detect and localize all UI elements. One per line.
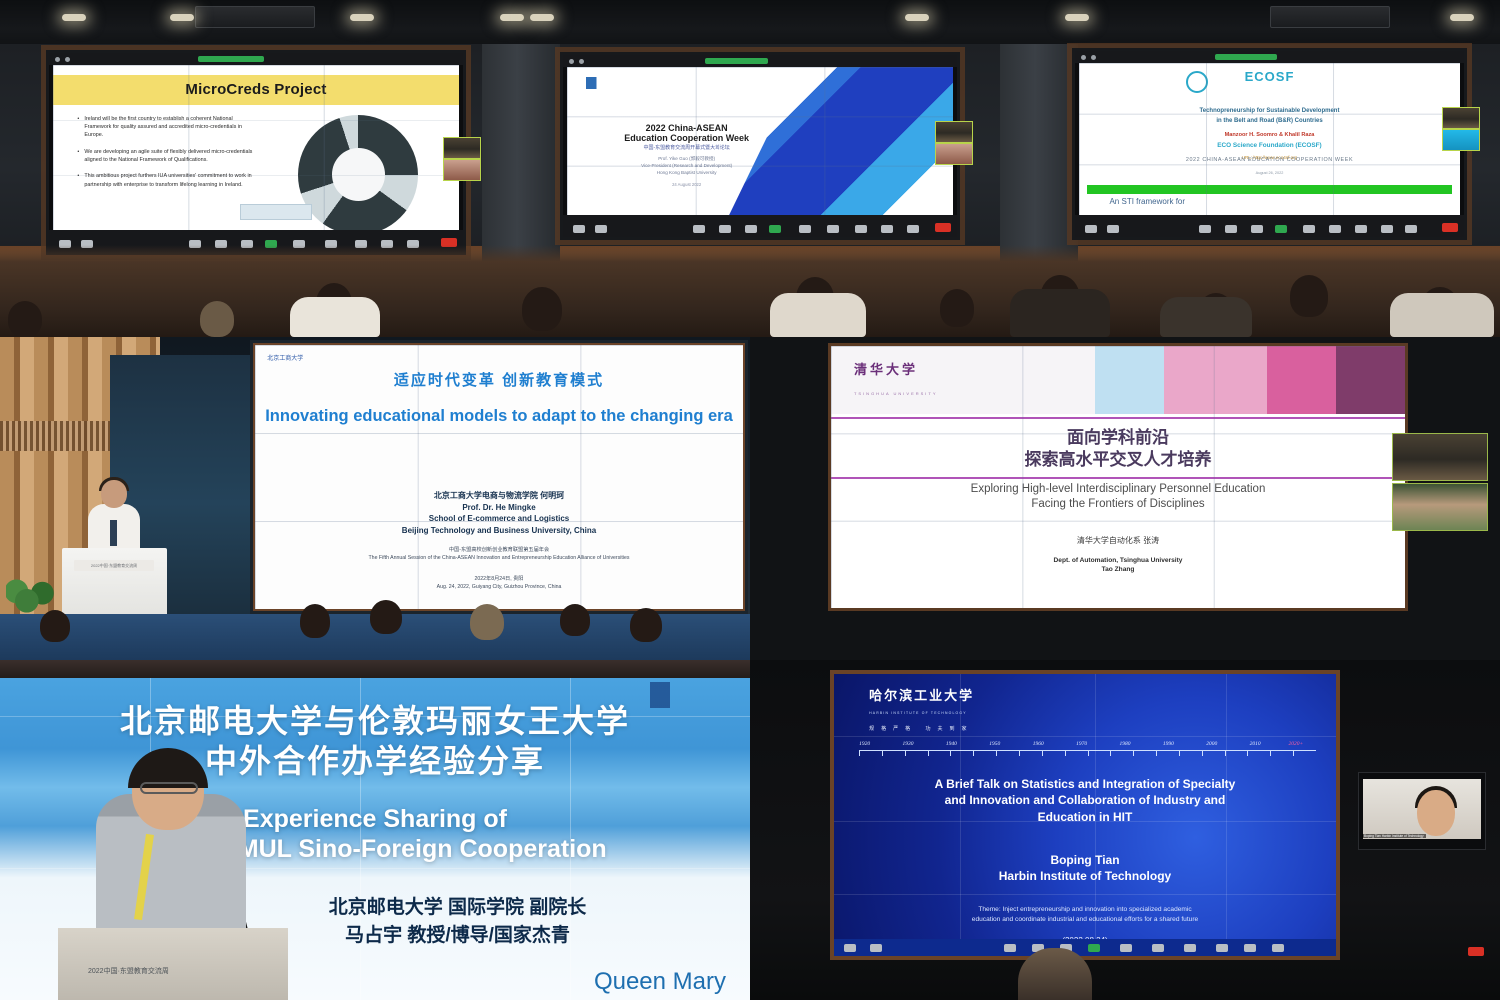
video-tile-participant bbox=[443, 159, 481, 181]
hkbu-logo bbox=[586, 77, 638, 89]
podium-sign-label: 2022中国·东盟教育交流周 bbox=[74, 560, 154, 571]
ceiling-light bbox=[170, 14, 194, 21]
record-button[interactable] bbox=[1355, 225, 1367, 233]
end-meeting-button[interactable] bbox=[1468, 947, 1484, 956]
shared-slide: MicroCreds Project Ireland will be the f… bbox=[53, 65, 459, 230]
video-tile-room bbox=[935, 121, 973, 143]
presenter-name: Prof. Yike Guo (郭毅可教授) bbox=[586, 156, 787, 163]
screen-ecosf: ECOSF Technopreneurship for Sustainable … bbox=[1072, 48, 1467, 240]
ceiling-light bbox=[530, 14, 554, 21]
date-cn: 2022年8月24日, 贵阳 bbox=[255, 575, 743, 583]
donut-diagram-icon bbox=[298, 115, 418, 235]
mute-button[interactable] bbox=[573, 225, 585, 233]
slide-speaker-line1: 北京邮电大学 国际学院 副院长 bbox=[180, 894, 735, 923]
chat-button[interactable] bbox=[745, 225, 757, 233]
slide-event-block: 中国-东盟高校创新创业教育联盟第五届年会 The Fifth Annual Se… bbox=[255, 546, 743, 562]
slide-title-cn-line1: 面向学科前沿 bbox=[831, 427, 1405, 449]
slide-theme-line1: Theme: Inject entrepreneurship and innov… bbox=[874, 905, 1296, 915]
slide-bullet-list: Ireland will be the first country to est… bbox=[77, 115, 256, 198]
breakout-rooms-button[interactable] bbox=[1244, 944, 1256, 952]
slide-title-line2: Education Cooperation Week bbox=[586, 133, 787, 143]
slide-date: August 26, 2022 bbox=[1109, 171, 1429, 175]
slide-title-line1: 2022 China-ASEAN bbox=[586, 123, 787, 133]
slide-date-block: 2022年8月24日, 贵阳 Aug. 24, 2022, Guiyang Ci… bbox=[255, 575, 743, 591]
pause-share-button[interactable] bbox=[799, 225, 811, 233]
timeline-year: 2000 bbox=[1206, 741, 1217, 747]
video-thumbnail-strip bbox=[443, 137, 481, 181]
video-tile-participant bbox=[1442, 129, 1480, 151]
btbu-logo: 北京工商大学 bbox=[267, 353, 303, 362]
timeline-year: 1930 bbox=[902, 741, 913, 747]
start-video-button[interactable] bbox=[870, 944, 882, 952]
ceiling-light bbox=[500, 14, 524, 21]
slide-title-cn-line2: 中外合作办学经验分享 bbox=[0, 741, 750, 782]
presenter-role: Vice-President (Research and Development… bbox=[586, 163, 787, 170]
slide-speaker: Boping Tian bbox=[864, 852, 1306, 869]
timeline-year-highlight: 2020+ bbox=[1289, 741, 1304, 747]
apps-button[interactable] bbox=[881, 225, 893, 233]
slide-presenters: Manzoor H. Soomro & Khalil Raza bbox=[1109, 131, 1429, 141]
share-screen-button[interactable] bbox=[1275, 225, 1287, 233]
slide-bullet: Ireland will be the first country to est… bbox=[77, 115, 256, 140]
more-button[interactable] bbox=[907, 225, 919, 233]
slide-title-cn-line2: 探索高水平交叉人才培养 bbox=[831, 449, 1405, 471]
participants-button[interactable] bbox=[719, 225, 731, 233]
annotate-button[interactable] bbox=[1329, 225, 1341, 233]
timeline-year: 1990 bbox=[1163, 741, 1174, 747]
shared-slide: ECOSF Technopreneurship for Sustainable … bbox=[1079, 63, 1460, 215]
slide-title-line3: Education in HIT bbox=[864, 809, 1306, 826]
slide-title-en-line1: Exploring High-level Interdisciplinary P… bbox=[831, 482, 1405, 497]
annotate-button[interactable] bbox=[827, 225, 839, 233]
slide-dept-block: Dept. of Automation, Tsinghua University… bbox=[831, 556, 1405, 576]
date-en: Aug. 24, 2022, Guiyang City, Guizhou Pro… bbox=[255, 583, 743, 591]
security-button[interactable] bbox=[693, 225, 705, 233]
ecosf-emblem-icon bbox=[1186, 71, 1208, 93]
speaker-necktie bbox=[110, 520, 117, 546]
school-en: School of E-commerce and Logistics bbox=[255, 513, 743, 525]
auditorium-wide-shot: MicroCreds Project Ireland will be the f… bbox=[0, 0, 1500, 337]
ceiling-light bbox=[905, 14, 929, 21]
slide-bullet: We are developing an agile suite of flex… bbox=[77, 148, 256, 165]
chat-button[interactable] bbox=[1251, 225, 1263, 233]
unmute-button[interactable] bbox=[844, 944, 856, 952]
led-wall: 清华大学 TSINGHUA UNIVERSITY 面向学科前沿 探索高水平交叉人… bbox=[828, 343, 1408, 611]
shared-slide: 2022 China-ASEAN Education Cooperation W… bbox=[567, 67, 953, 215]
ceiling-vent bbox=[1270, 6, 1390, 28]
slide-title-line2: and Innovation and Collaboration of Indu… bbox=[864, 792, 1306, 809]
zoom-toolbar[interactable] bbox=[1075, 215, 1464, 237]
event-en: The Fifth Annual Session of the China-AS… bbox=[255, 554, 743, 562]
led-wall: 哈尔滨工业大学 HARBIN INSTITUTE OF TECHNOLOGY 规… bbox=[830, 670, 1340, 960]
video-tile-participant bbox=[1392, 483, 1488, 531]
university-en: Beijing Technology and Business Universi… bbox=[255, 525, 743, 537]
author-en: Prof. Dr. He Mingke bbox=[255, 502, 743, 514]
btbu-slide-screen: 北京工商大学 适应时代变革 创新教育模式 Innovating educatio… bbox=[253, 343, 745, 611]
event-cn: 中国-东盟高校创新创业教育联盟第五届年会 bbox=[255, 546, 743, 554]
slide-date: 24 August 2022 bbox=[586, 182, 787, 187]
stop-caption-button[interactable] bbox=[1152, 944, 1164, 952]
hit-logo: 哈尔滨工业大学 bbox=[869, 685, 974, 704]
reactions-button[interactable] bbox=[1216, 944, 1228, 952]
mute-button[interactable] bbox=[1085, 225, 1097, 233]
screen-microcreds: MicroCreds Project Ireland will be the f… bbox=[46, 50, 466, 255]
start-video-button[interactable] bbox=[1107, 225, 1119, 233]
slide-title-block: 2022 China-ASEAN Education Cooperation W… bbox=[586, 123, 787, 151]
video-tile-room bbox=[443, 137, 481, 159]
record-button[interactable] bbox=[1184, 944, 1196, 952]
timeline-year: 1950 bbox=[989, 741, 1000, 747]
slide-title-band: MicroCreds Project bbox=[53, 75, 459, 105]
timeline-year: 1940 bbox=[946, 741, 957, 747]
host-tools-button[interactable] bbox=[1120, 944, 1132, 952]
more-button[interactable] bbox=[1405, 225, 1417, 233]
video-tile-participant bbox=[935, 143, 973, 165]
timeline-year: 1920 bbox=[859, 741, 870, 747]
slide-title: MicroCreds Project bbox=[185, 81, 326, 98]
tsinghua-logo-en: TSINGHUA UNIVERSITY bbox=[854, 391, 938, 396]
ceiling-vent bbox=[195, 6, 315, 28]
author-cn: 北京工商大学电商与物流学院 何明珂 bbox=[255, 490, 743, 502]
slide-theme-line2: education and coordinate industrial and … bbox=[874, 915, 1296, 925]
participant-face bbox=[1417, 790, 1455, 836]
more-button[interactable] bbox=[1272, 944, 1284, 952]
slide-header-banner bbox=[831, 346, 1405, 414]
apps-button[interactable] bbox=[1381, 225, 1393, 233]
btbu-speaker-photo: 北京工商大学 适应时代变革 创新教育模式 Innovating educatio… bbox=[0, 337, 750, 660]
slide-event: 2022 CHINA-ASEAN EDUCATION COOPERATION W… bbox=[1109, 157, 1429, 163]
speaker-glasses bbox=[140, 782, 198, 794]
record-button[interactable] bbox=[855, 225, 867, 233]
ceiling-light bbox=[350, 14, 374, 21]
slide-green-divider bbox=[1087, 185, 1453, 194]
slide-title-line2: in the Belt and Road (B&R) Countries bbox=[1109, 116, 1429, 127]
security-button[interactable] bbox=[1004, 944, 1016, 952]
tsinghua-slide-screen: 清华大学 TSINGHUA UNIVERSITY 面向学科前沿 探索高水平交叉人… bbox=[750, 337, 1500, 660]
slide-title-line1: A Brief Talk on Statistics and Integrati… bbox=[864, 776, 1306, 793]
ceiling-light bbox=[1065, 14, 1089, 21]
slide-dept-en: Dept. of Automation, Tsinghua University bbox=[831, 556, 1405, 566]
slide-title-cn: 中国-东盟教育交流周开幕式暨大회论坛 bbox=[586, 144, 787, 151]
iua-logo bbox=[240, 204, 312, 220]
end-meeting-button[interactable] bbox=[1442, 223, 1458, 232]
start-video-button[interactable] bbox=[595, 225, 607, 233]
timeline-year: 1970 bbox=[1076, 741, 1087, 747]
participants-button[interactable] bbox=[1225, 225, 1237, 233]
ceiling bbox=[0, 0, 1500, 48]
security-button[interactable] bbox=[1199, 225, 1211, 233]
hit-slide-screen: 哈尔滨工业大学 HARBIN INSTITUTE OF TECHNOLOGY 规… bbox=[750, 660, 1500, 1000]
podium-sign: 2022中国·东盟教育交流周 bbox=[74, 560, 154, 571]
zoom-toolbar[interactable] bbox=[563, 215, 957, 237]
ceiling-light bbox=[1450, 14, 1474, 21]
screen-bu-hkbu: 2022 China-ASEAN Education Cooperation W… bbox=[560, 52, 960, 240]
video-tile-room bbox=[1392, 433, 1488, 481]
timeline-year: 1960 bbox=[1033, 741, 1044, 747]
slide-title-cn: 北京邮电大学与伦敦玛丽女王大学 中外合作办学经验分享 bbox=[0, 701, 750, 783]
end-meeting-button[interactable] bbox=[935, 223, 951, 232]
slide-dept-cn: 清华大学自动化系 张涛 bbox=[831, 535, 1405, 546]
slide-title-cn-line1: 北京邮电大学与伦敦玛丽女王大学 bbox=[0, 701, 750, 742]
share-screen-button[interactable] bbox=[1088, 944, 1100, 952]
share-screen-button[interactable] bbox=[769, 225, 781, 233]
zoom-window-topbar bbox=[1075, 51, 1464, 63]
front-desk-row bbox=[0, 614, 750, 660]
slide-next-line: An STI framework for bbox=[1109, 197, 1185, 206]
zoom-window-topbar bbox=[563, 55, 957, 67]
bupt-qmul-speaker-photo: 北京邮电大学与伦敦玛丽女王大学 中外合作办学经验分享 Experience Sh… bbox=[0, 660, 750, 1000]
slide-title-block: Technopreneurship for Sustainable Develo… bbox=[1109, 106, 1429, 162]
hit-logo-en: HARBIN INSTITUTE OF TECHNOLOGY bbox=[869, 711, 967, 715]
slide-bullet: This ambitious project furthers IUA univ… bbox=[77, 172, 256, 189]
slide-title: A Brief Talk on Statistics and Integrati… bbox=[864, 776, 1306, 826]
timeline-axis: 1920 1930 1940 1950 1960 1970 1980 1990 … bbox=[859, 750, 1316, 764]
slide-author-block: 北京工商大学电商与物流学院 何明珂 Prof. Dr. He Mingke Sc… bbox=[255, 490, 743, 536]
timeline-year: 1980 bbox=[1119, 741, 1130, 747]
speaker-head bbox=[101, 480, 127, 508]
slide-speaker-en: Tao Zhang bbox=[831, 565, 1405, 575]
audience-rows bbox=[0, 245, 1500, 337]
queen-mary-logo: Queen Mary bbox=[594, 968, 726, 996]
zoom-window-topbar bbox=[49, 53, 463, 65]
slide-theme: Theme: Inject entrepreneurship and innov… bbox=[874, 905, 1296, 925]
presenter-org: Hong Kong Baptist University bbox=[586, 170, 787, 177]
video-tile-participant: Boping Tian Harbin Institute of Technolo… bbox=[1358, 772, 1486, 850]
podium-sign: 2022中国·东盟教育交流周 bbox=[88, 966, 169, 976]
ecosf-logo: ECOSF bbox=[1245, 69, 1295, 84]
slide-title-en-line2: Facing the Frontiers of Disciplines bbox=[831, 497, 1405, 512]
slide-title-cn: 面向学科前沿 探索高水平交叉人才培养 bbox=[831, 427, 1405, 471]
slide-org: ECO Science Foundation (ECOSF) bbox=[1109, 140, 1429, 151]
video-caption: Boping Tian Harbin Institute of Technolo… bbox=[1362, 834, 1426, 838]
ceiling-light bbox=[62, 14, 86, 21]
slide-author-block: Boping Tian Harbin Institute of Technolo… bbox=[864, 852, 1306, 885]
slide-title-line1: Technopreneurship for Sustainable Develo… bbox=[1109, 106, 1429, 117]
tsinghua-logo: 清华大学 bbox=[854, 359, 918, 378]
video-thumbnail-strip bbox=[1442, 107, 1480, 151]
photo-collage: MicroCreds Project Ireland will be the f… bbox=[0, 0, 1500, 1000]
slide-title-en: Exploring High-level Interdisciplinary P… bbox=[831, 482, 1405, 511]
video-thumbnail-strip bbox=[935, 121, 973, 165]
presenter-block: Prof. Yike Guo (郭毅可教授) Vice-President (R… bbox=[586, 156, 787, 177]
timeline-year: 2010 bbox=[1250, 741, 1261, 747]
hit-motto: 规格严格 功夫到家 bbox=[869, 725, 973, 732]
slide-title-cn: 适应时代变革 创新教育模式 bbox=[255, 369, 743, 390]
pause-share-button[interactable] bbox=[1303, 225, 1315, 233]
slide-org: Harbin Institute of Technology bbox=[864, 868, 1306, 885]
zoom-toolbar[interactable] bbox=[834, 939, 1336, 956]
video-tile-room bbox=[1442, 107, 1480, 129]
slide-title-en: Innovating educational models to adapt t… bbox=[255, 406, 743, 426]
podium: 2022中国·东盟教育交流周 bbox=[58, 928, 288, 1000]
